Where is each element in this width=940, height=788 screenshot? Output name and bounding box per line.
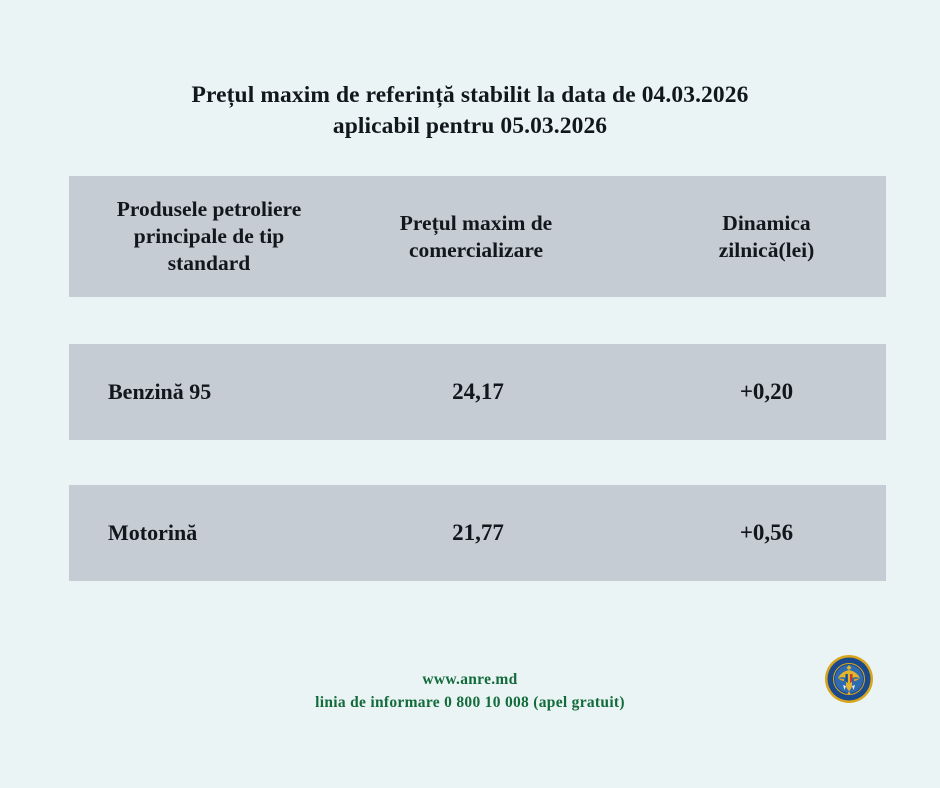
header-product-line-2: principale de tip [75, 223, 335, 250]
row-0-price: 24,17 [347, 378, 607, 406]
table-row-spacer [69, 297, 886, 344]
row-1-product: Motorină [75, 519, 335, 547]
title-line-1: Prețul maxim de referință stabilit la da… [0, 80, 940, 111]
anre-fuel-price-poster: Prețul maxim de referință stabilit la da… [0, 0, 940, 788]
table-header-row: Produsele petroliere principale de tip s… [69, 176, 886, 297]
table-cell-dynamic: +0,20 [613, 378, 886, 406]
row-0-dynamic: +0,20 [619, 378, 880, 406]
fuel-price-table: Produsele petroliere principale de tip s… [69, 176, 886, 581]
row-1-dynamic: +0,56 [619, 519, 880, 547]
header-price-line-2: comercializare [347, 237, 607, 264]
header-product-line-3: standard [75, 250, 335, 277]
title-line-2: aplicabil pentru 05.03.2026 [0, 111, 940, 142]
header-price-line-1: Prețul maxim de [347, 210, 607, 237]
anre-logo [824, 654, 874, 704]
table-row: Motorină 21,77 +0,56 [69, 485, 886, 581]
page-title: Prețul maxim de referință stabilit la da… [0, 80, 940, 142]
table-header-cell-dynamic: Dinamica zilnică(lei) [613, 210, 886, 264]
footer-website[interactable]: www.anre.md [0, 668, 940, 691]
table-cell-dynamic: +0,56 [613, 519, 886, 547]
table-header-cell-price: Prețul maxim de comercializare [341, 210, 613, 264]
footer-info-line: linia de informare 0 800 10 008 (apel gr… [0, 691, 940, 714]
table-cell-price: 24,17 [341, 378, 613, 406]
table-row-spacer [69, 440, 886, 485]
table-cell-product: Motorină [69, 519, 341, 547]
table-cell-price: 21,77 [341, 519, 613, 547]
table-header-cell-product: Produsele petroliere principale de tip s… [69, 196, 341, 277]
row-0-product: Benzină 95 [75, 378, 335, 406]
table-cell-product: Benzină 95 [69, 378, 341, 406]
footer: www.anre.md linia de informare 0 800 10 … [0, 668, 940, 714]
row-1-price: 21,77 [347, 519, 607, 547]
header-dynamic-line-1: Dinamica [619, 210, 880, 237]
table-row: Benzină 95 24,17 +0,20 [69, 344, 886, 440]
header-product-line-1: Produsele petroliere [75, 196, 335, 223]
header-dynamic-line-2: zilnică(lei) [619, 237, 880, 264]
